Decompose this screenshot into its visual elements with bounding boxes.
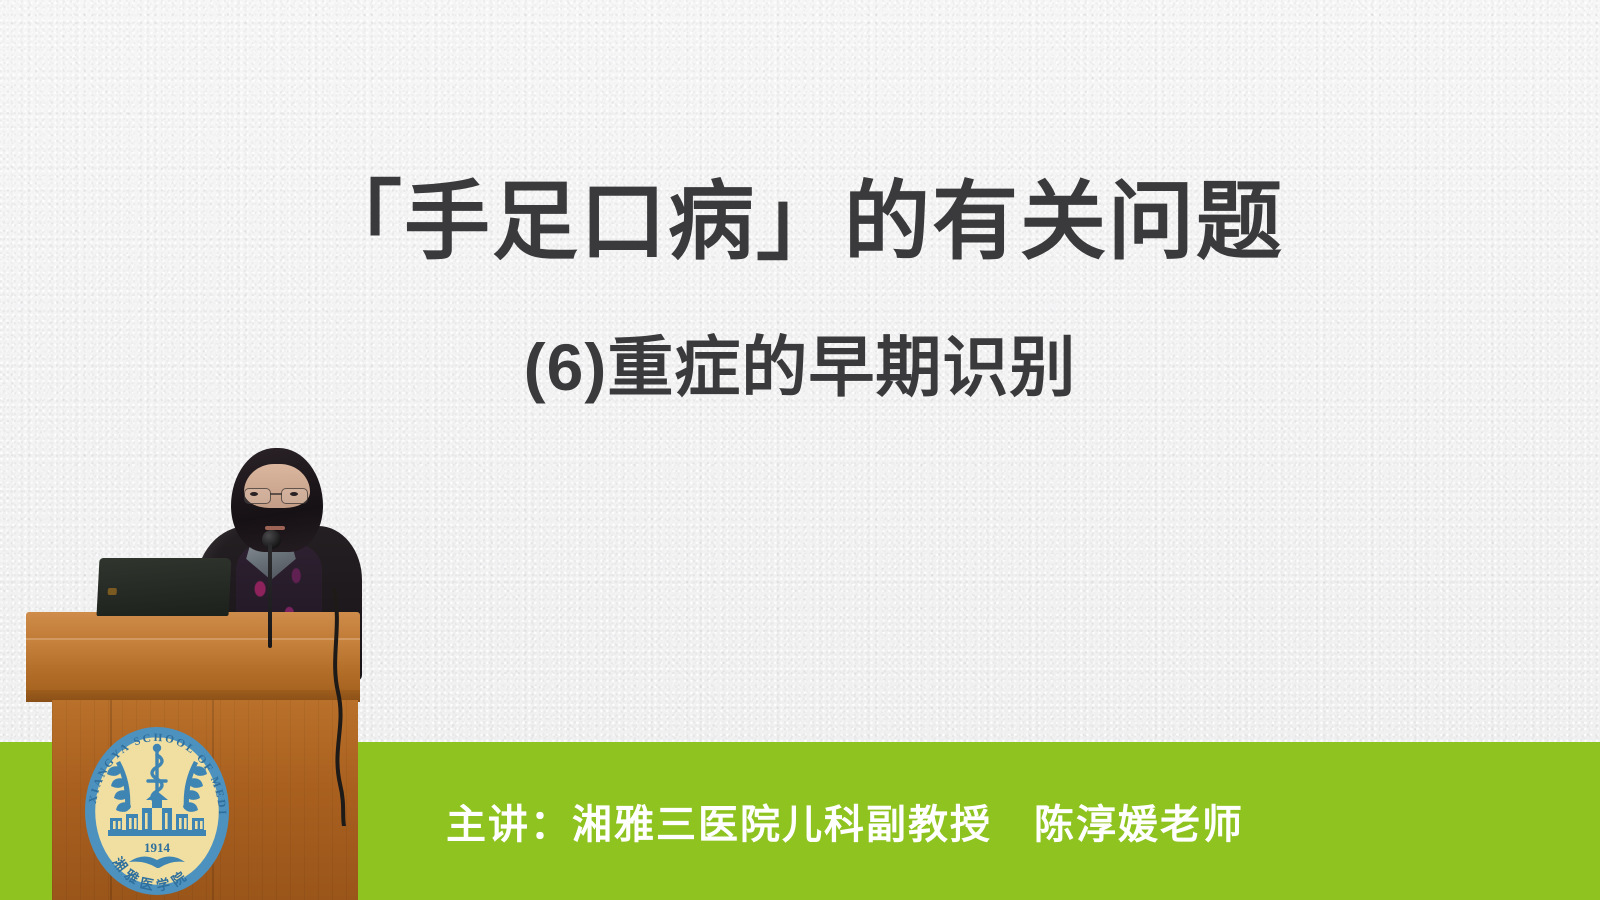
- page-subtitle: (6)重症的早期识别: [0, 269, 1600, 404]
- lecture-title-slide: 「手足口病」的有关问题 (6)重症的早期识别 主讲：湘雅三医院儿科副教授 陈淳媛…: [0, 0, 1600, 900]
- presenter-eye-left: [250, 492, 258, 496]
- microphone-stem: [268, 544, 272, 648]
- podium-front-face: [26, 638, 360, 694]
- laptop: [96, 558, 231, 616]
- presenter-photo: XIANGYA SCHOOL OF MEDICINE: [0, 440, 372, 900]
- cable: [326, 588, 331, 826]
- podium: XIANGYA SCHOOL OF MEDICINE: [0, 440, 372, 900]
- presenter-eye-right: [290, 492, 298, 496]
- title-block: 「手足口病」的有关问题 (6)重症的早期识别: [0, 176, 1600, 403]
- page-title: 「手足口病」的有关问题: [0, 176, 1600, 269]
- xiangya-medicine-emblem-icon: XIANGYA SCHOOL OF MEDICINE: [74, 722, 240, 900]
- svg-text:1914: 1914: [144, 840, 171, 855]
